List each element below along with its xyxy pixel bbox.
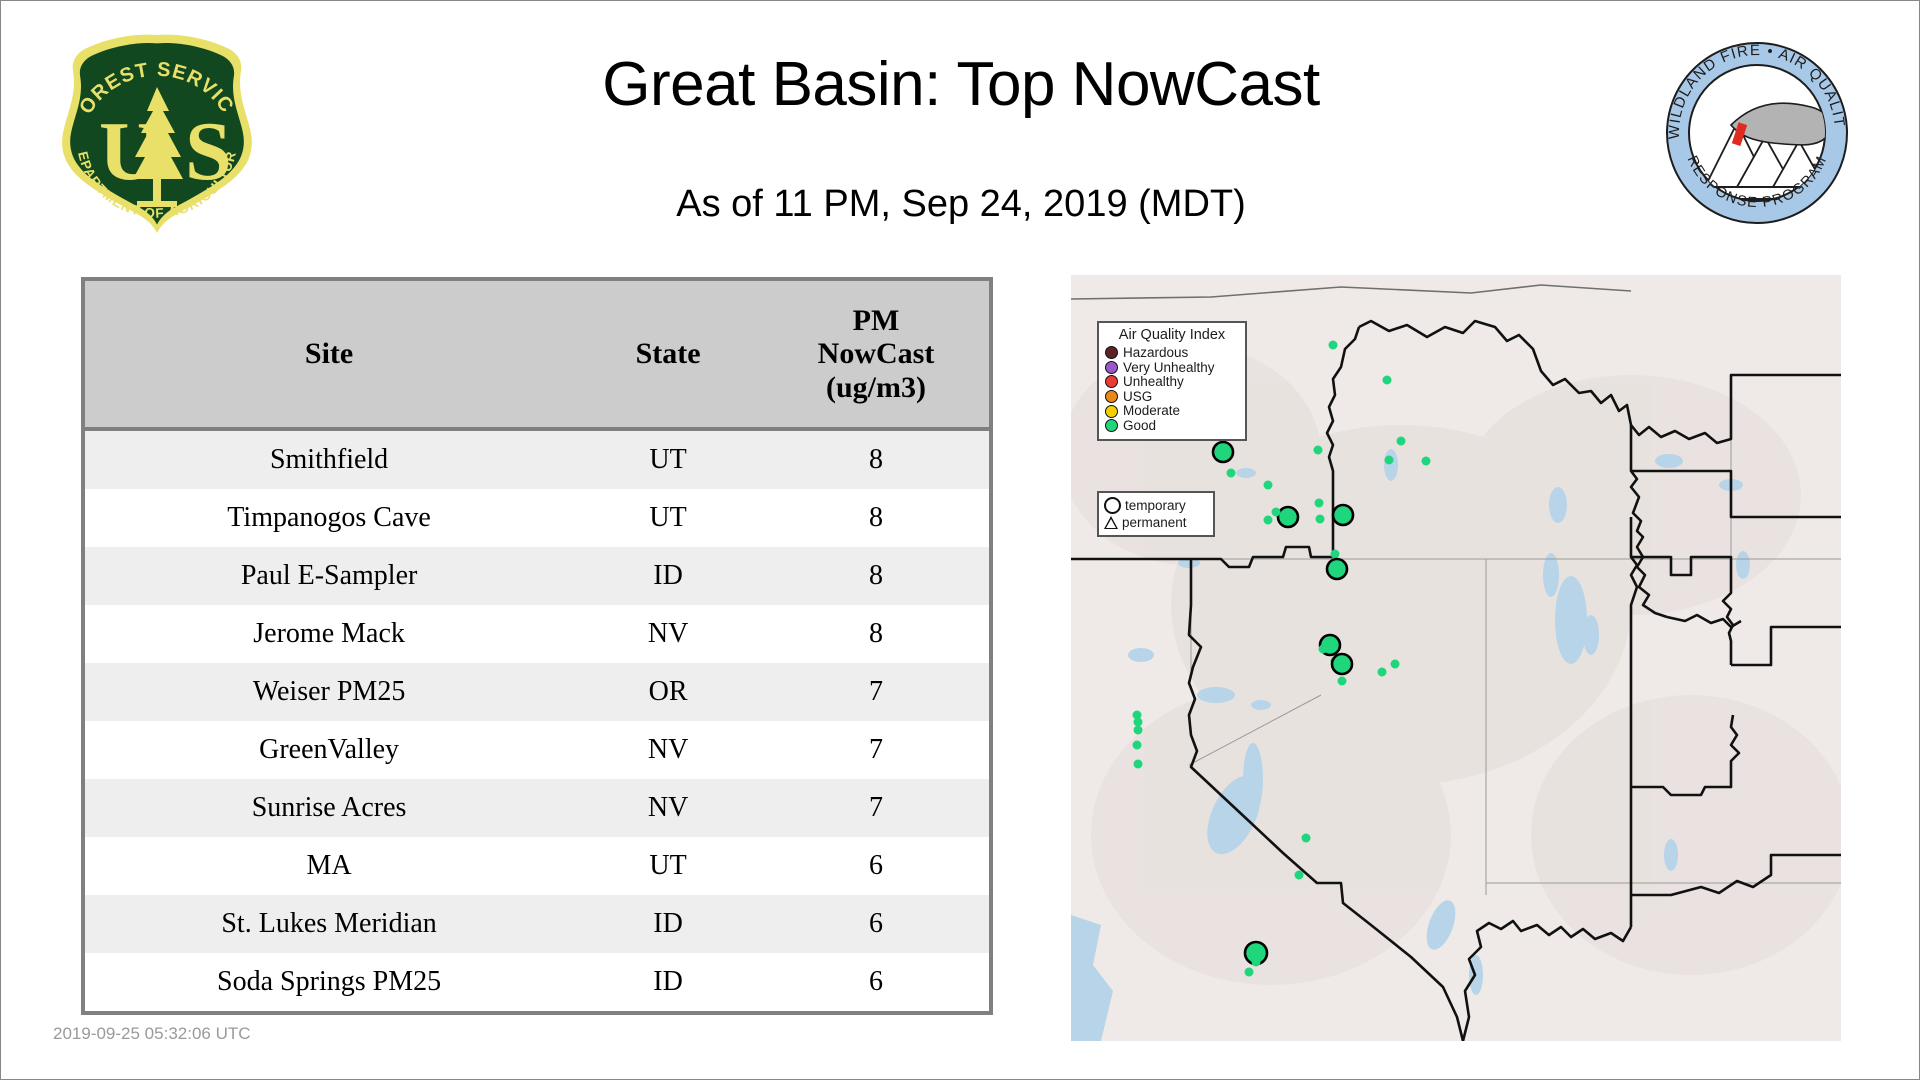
column-header-site: Site (85, 281, 573, 429)
svg-text:S: S (185, 105, 232, 198)
site-cell: Sunrise Acres (85, 779, 573, 837)
aqi-legend-title: Air Quality Index (1105, 328, 1239, 343)
monitor-marker[interactable] (1264, 516, 1273, 525)
aqi-swatch-icon (1105, 419, 1118, 432)
pm-cell: 7 (763, 779, 989, 837)
table-row: SmithfieldUT8 (85, 429, 989, 489)
state-cell: UT (573, 489, 763, 547)
column-header-state: State (573, 281, 763, 429)
monitor-marker[interactable] (1316, 515, 1325, 524)
table-row: Jerome MackNV8 (85, 605, 989, 663)
aqi-legend-label: Unhealthy (1123, 375, 1184, 389)
wfaqrp-logo: WILDLAND FIRE • AIR QUALITY RESPONSE PRO… (1661, 37, 1853, 229)
legend-permanent-label: permanent (1122, 516, 1187, 530)
page-title: Great Basin: Top NowCast (331, 53, 1591, 117)
aqi-legend-label: Good (1123, 419, 1156, 433)
monitor-marker[interactable] (1397, 437, 1406, 446)
monitor-marker[interactable] (1252, 958, 1261, 967)
aqi-legend-item: Moderate (1105, 404, 1239, 419)
monitor-marker[interactable] (1245, 968, 1254, 977)
monitor-marker[interactable] (1385, 456, 1394, 465)
pm-cell: 8 (763, 547, 989, 605)
pm-cell: 8 (763, 429, 989, 489)
monitor-marker[interactable] (1264, 481, 1273, 490)
aqi-swatch-icon (1105, 390, 1118, 403)
forest-service-shield-icon: FOREST SERVICE DEPARTMENT OF AGRICULTURE… (49, 29, 265, 237)
monitor-marker[interactable] (1315, 499, 1324, 508)
state-cell: UT (573, 837, 763, 895)
monitor-marker[interactable] (1338, 677, 1347, 686)
legend-temporary-label: temporary (1125, 499, 1186, 513)
table-row: Soda Springs PM25ID6 (85, 953, 989, 1011)
state-cell: UT (573, 429, 763, 489)
usda-forest-service-logo: FOREST SERVICE DEPARTMENT OF AGRICULTURE… (49, 29, 265, 237)
aqi-legend-item: USG (1105, 389, 1239, 404)
pm-header-line-3: (ug/m3) (826, 371, 926, 404)
aqi-legend-item: Good (1105, 418, 1239, 433)
footer-timestamp: 2019-09-25 05:32:06 UTC (53, 1024, 251, 1044)
monitor-marker[interactable] (1278, 507, 1298, 527)
monitor-marker[interactable] (1327, 559, 1347, 579)
poster-root: FOREST SERVICE DEPARTMENT OF AGRICULTURE… (1, 1, 1919, 1079)
state-cell: NV (573, 605, 763, 663)
monitor-marker[interactable] (1295, 871, 1304, 880)
monitor-marker[interactable] (1378, 668, 1387, 677)
aqi-legend-label: Very Unhealthy (1123, 361, 1215, 375)
nowcast-table: Site State PM NowCast (ug/m3) Smithfield… (85, 281, 989, 1011)
circle-icon (1104, 497, 1121, 514)
monitor-marker[interactable] (1227, 469, 1236, 478)
pm-cell: 8 (763, 605, 989, 663)
aqi-legend-label: USG (1123, 390, 1152, 404)
aqi-legend-label: Moderate (1123, 404, 1180, 418)
site-cell: Soda Springs PM25 (85, 953, 573, 1011)
table-head: Site State PM NowCast (ug/m3) (85, 281, 989, 429)
aqi-legend: Air Quality Index HazardousVery Unhealth… (1097, 321, 1247, 441)
pm-cell: 7 (763, 663, 989, 721)
aqi-swatch-icon (1105, 361, 1118, 374)
column-header-pm-nowcast: PM NowCast (ug/m3) (763, 281, 989, 429)
monitor-marker[interactable] (1331, 550, 1340, 559)
aqi-legend-item: Hazardous (1105, 346, 1239, 361)
aqi-swatch-icon (1105, 375, 1118, 388)
monitor-marker[interactable] (1134, 726, 1143, 735)
site-cell: MA (85, 837, 573, 895)
page-subtitle: As of 11 PM, Sep 24, 2019 (MDT) (331, 183, 1591, 226)
monitor-marker[interactable] (1332, 654, 1352, 674)
monitor-marker[interactable] (1422, 457, 1431, 466)
monitor-marker[interactable] (1314, 446, 1323, 455)
table-row: Timpanogos CaveUT8 (85, 489, 989, 547)
state-cell: OR (573, 663, 763, 721)
nowcast-table-container: Site State PM NowCast (ug/m3) Smithfield… (81, 277, 993, 1015)
state-cell: NV (573, 721, 763, 779)
pm-cell: 6 (763, 837, 989, 895)
site-cell: Timpanogos Cave (85, 489, 573, 547)
table-header-row: Site State PM NowCast (ug/m3) (85, 281, 989, 429)
site-cell: St. Lukes Meridian (85, 895, 573, 953)
monitor-marker[interactable] (1134, 718, 1143, 727)
monitor-marker[interactable] (1302, 834, 1311, 843)
table-row: St. Lukes MeridianID6 (85, 895, 989, 953)
monitor-marker[interactable] (1213, 442, 1233, 462)
table-row: Weiser PM25OR7 (85, 663, 989, 721)
table-row: Paul E-SamplerID8 (85, 547, 989, 605)
monitor-marker[interactable] (1319, 645, 1328, 654)
state-cell: ID (573, 953, 763, 1011)
monitor-marker[interactable] (1133, 741, 1142, 750)
monitor-marker[interactable] (1383, 376, 1392, 385)
monitor-marker[interactable] (1329, 341, 1338, 350)
state-cell: ID (573, 547, 763, 605)
state-cell: NV (573, 779, 763, 837)
pm-cell: 6 (763, 953, 989, 1011)
legend-temporary-row: temporary (1104, 497, 1208, 514)
site-cell: GreenValley (85, 721, 573, 779)
table-body: SmithfieldUT8Timpanogos CaveUT8Paul E-Sa… (85, 429, 989, 1011)
site-cell: Jerome Mack (85, 605, 573, 663)
pm-cell: 8 (763, 489, 989, 547)
aqi-legend-label: Hazardous (1123, 346, 1188, 360)
aqi-legend-item: Unhealthy (1105, 375, 1239, 390)
aqi-legend-item: Very Unhealthy (1105, 360, 1239, 375)
monitor-marker[interactable] (1333, 505, 1353, 525)
state-cell: ID (573, 895, 763, 953)
table-row: GreenValleyNV7 (85, 721, 989, 779)
table-row: MAUT6 (85, 837, 989, 895)
legend-permanent-row: permanent (1104, 514, 1208, 531)
aqi-swatch-icon (1105, 405, 1118, 418)
monitor-marker[interactable] (1272, 508, 1281, 517)
triangle-icon (1104, 516, 1118, 529)
monitor-marker[interactable] (1391, 660, 1400, 669)
monitor-marker[interactable] (1134, 760, 1143, 769)
site-type-legend: temporary permanent (1097, 491, 1215, 537)
site-cell: Paul E-Sampler (85, 547, 573, 605)
table-row: Sunrise AcresNV7 (85, 779, 989, 837)
site-cell: Weiser PM25 (85, 663, 573, 721)
site-cell: Smithfield (85, 429, 573, 489)
pm-header-line-2: NowCast (818, 337, 935, 370)
pm-cell: 6 (763, 895, 989, 953)
pm-cell: 7 (763, 721, 989, 779)
pm-header-line-1: PM (853, 304, 900, 337)
aqi-swatch-icon (1105, 346, 1118, 359)
wildland-fire-air-quality-seal-icon: WILDLAND FIRE • AIR QUALITY RESPONSE PRO… (1661, 37, 1853, 229)
